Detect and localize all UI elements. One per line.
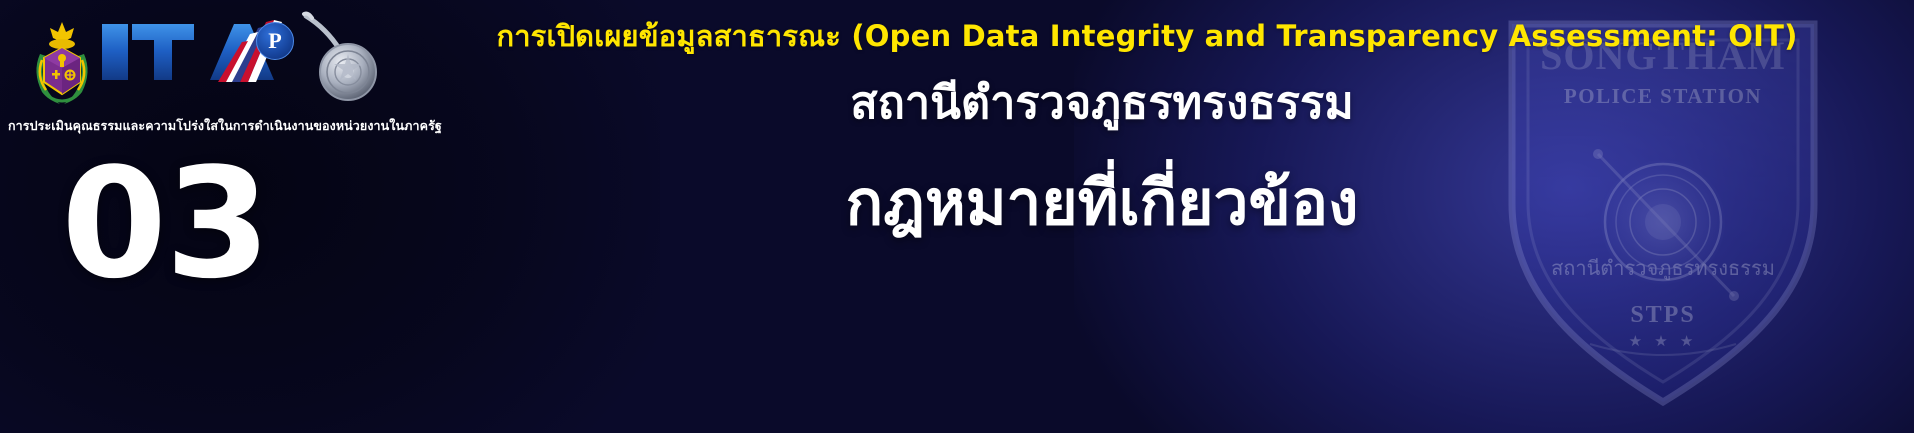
royal-mace-emblem-icon xyxy=(292,10,378,114)
badge-name-th: สถานีตำรวจภูธรทรงธรรม xyxy=(1498,252,1828,284)
step-number: 03 xyxy=(34,146,296,301)
ita-subtitle-text: การประเมินคุณธรรมและความโปร่งใสในการดำเน… xyxy=(8,116,388,136)
oit-banner: SONGTHAM POLICE STATION สถานีตำรวจภูธรทร… xyxy=(0,0,1914,433)
badge-stars: ★ ★ ★ xyxy=(1498,332,1828,350)
registered-p-mark-icon: P xyxy=(256,22,294,60)
section-heading: กฎหมายที่เกี่ยวข้อง xyxy=(380,166,1824,239)
badge-abbreviation: STPS xyxy=(1498,302,1828,329)
station-name: สถานีตำรวจภูธรทรงธรรม xyxy=(380,76,1824,130)
oit-title: การเปิดเผยข้อมูลสาธารณะ (Open Data Integ… xyxy=(380,18,1914,54)
ita-wordmark-logo xyxy=(98,16,288,94)
header-text-block: การเปิดเผยข้อมูลสาธารณะ (Open Data Integ… xyxy=(380,18,1914,239)
thai-royal-garuda-emblem-icon xyxy=(30,20,94,112)
ita-logo-cluster: P การประเมินคุณธรรมและความโปร่งใสในการดำ… xyxy=(8,4,388,144)
